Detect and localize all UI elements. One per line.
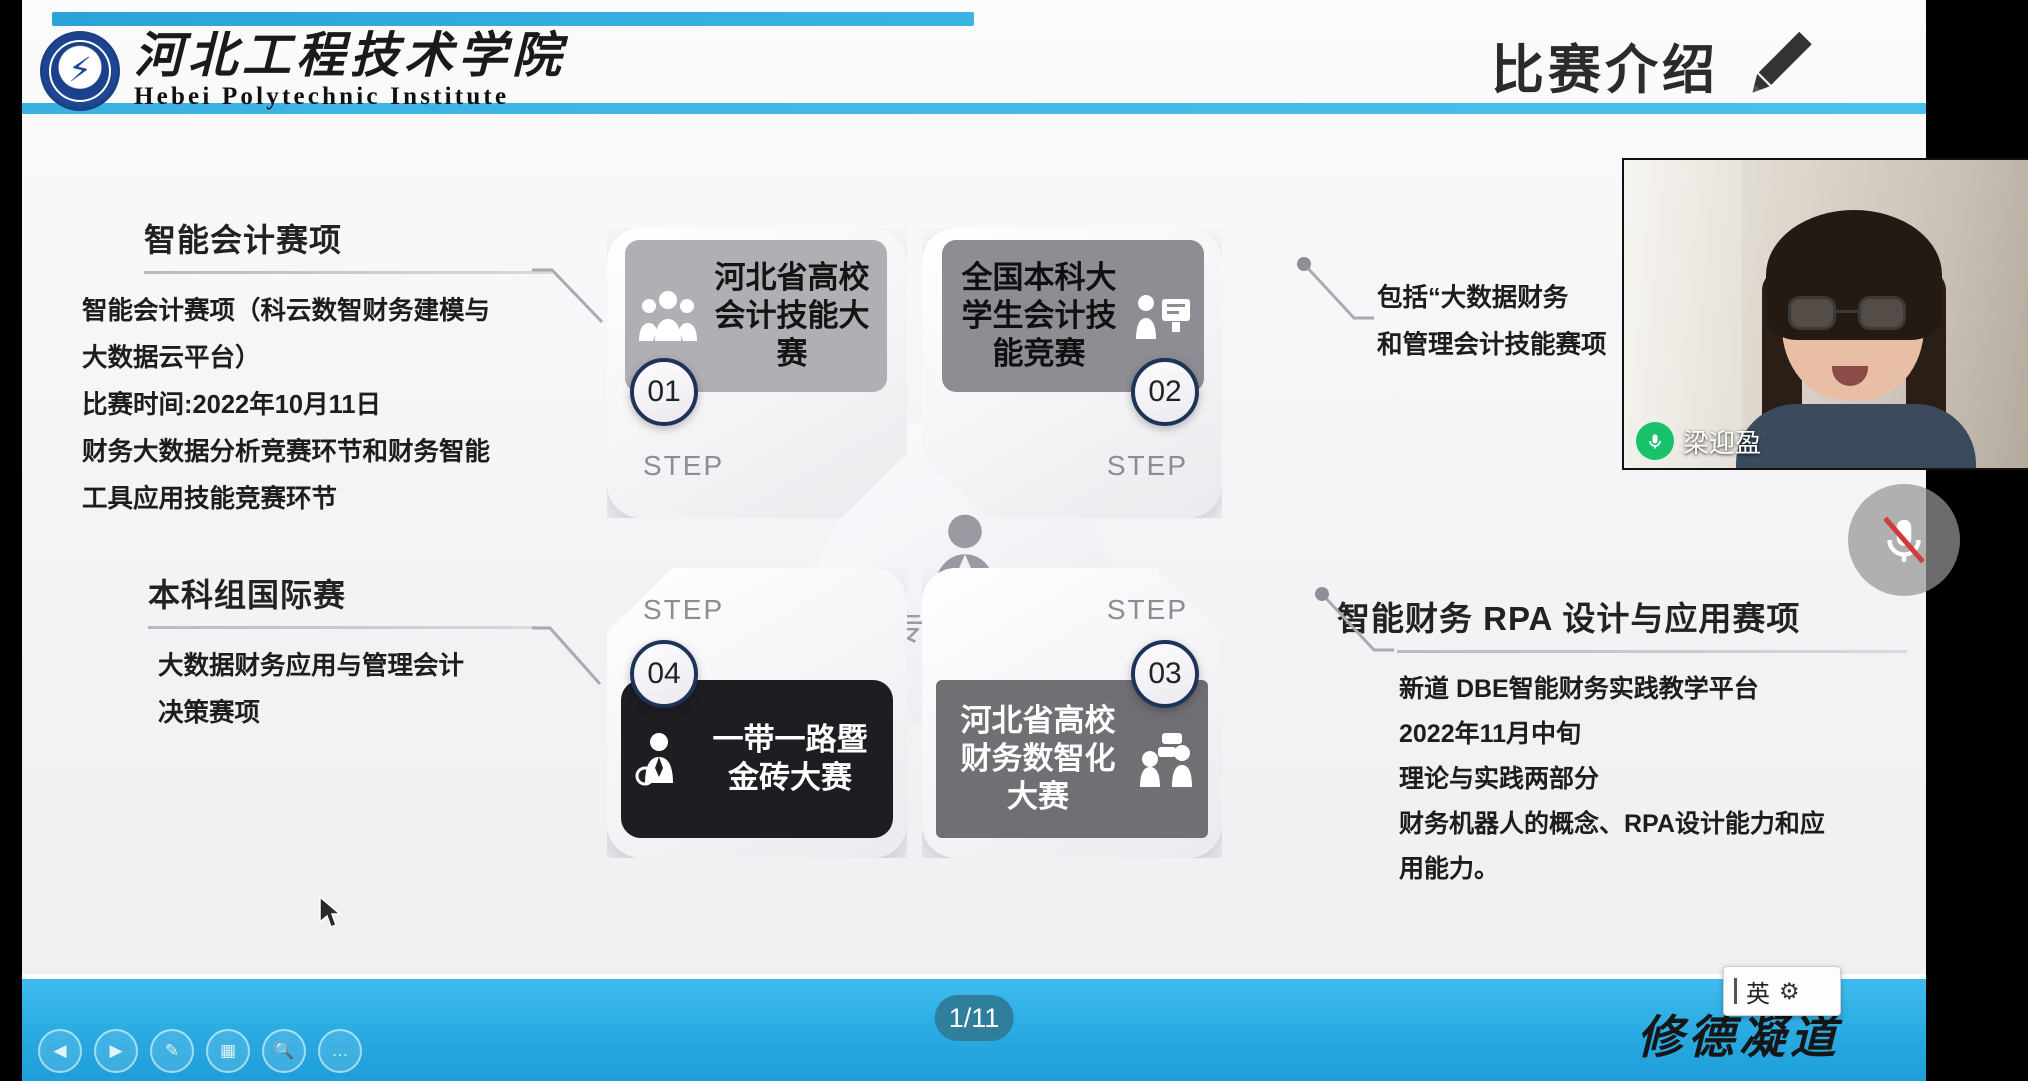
step-card-03-number: 03 [1131,640,1199,708]
step-card-02-text: 全国本科大学生会计技能竞赛 [954,259,1124,373]
microphone-icon [1636,422,1674,460]
ime-language-label[interactable]: 英 [1746,974,1770,1009]
block-line: 财务大数据分析竞赛环节和财务智能 [82,429,522,476]
block-line: 用能力。 [1399,847,1917,892]
microphone-muted-icon[interactable] [1848,484,1960,596]
block-line: 决策赛项 [158,690,560,737]
person-briefcase-icon [633,731,689,787]
presentation-toolbar: ◀ ▶ ✎ ▦ 🔍 … [22,1029,362,1073]
pencil-icon [1737,24,1821,102]
logo-chinese-name: 河北工程技术学院 [134,30,566,81]
gear-icon[interactable]: ⚙ [1779,978,1800,1005]
step-card-01-step-word: STEP [643,450,724,482]
logo-english-name: Hebei Polytechnic Institute [134,83,566,111]
divider [1397,650,1907,653]
block-line: 智能会计赛项（科云数智财务建模与 [82,288,522,335]
step-card-03-step-word: STEP [1107,594,1188,626]
person-screen-icon [1134,291,1192,341]
header-accent-bar [52,12,974,26]
participant-name-badge: 梁迎盈 [1636,422,1761,460]
step-card-01[interactable]: 河北省高校会计技能大赛 STEP 01 [607,228,907,518]
text-block-undergraduate-international: 本科组国际赛 大数据财务应用与管理会计 决策赛项 [140,570,560,737]
mouse-cursor [318,895,344,931]
step-card-04-text: 一带一路暨金砖大赛 [699,721,881,797]
block-line: 工具应用技能竞赛环节 [82,476,522,523]
step-card-04[interactable]: 一带一路暨金砖大赛 STEP 04 [607,568,907,858]
screen: ⚡ 河北工程技术学院 Hebei Polytechnic Institute 比… [0,0,2028,1081]
block-title: 本科组国际赛 [148,570,560,616]
block-line: 大数据财务应用与管理会计 [158,643,560,690]
group-people-icon [637,289,699,343]
block-title: 智能财务 RPA 设计与应用赛项 [1337,592,1917,640]
eyeglasses-icon [1788,296,1836,330]
next-slide-button[interactable]: ▶ [94,1029,138,1073]
ime-cursor-icon [1734,978,1737,1004]
step-card-02-number: 02 [1131,358,1199,426]
step-card-04-step-word: STEP [643,594,724,626]
text-block-intelligent-accounting: 智能会计赛项 智能会计赛项（科云数智财务建模与 大数据云平台） 比赛时间:202… [82,215,522,523]
step-card-03-text: 河北省高校财务数智化大赛 [948,702,1128,816]
more-options-button[interactable]: … [318,1029,362,1073]
step-card-04-number: 04 [630,640,698,708]
step-card-03[interactable]: 河北省高校财务数智化大赛 STEP 03 [922,568,1222,858]
prev-slide-button[interactable]: ◀ [38,1029,82,1073]
block-line: 比赛时间:2022年10月11日 [82,382,522,429]
zoom-button[interactable]: 🔍 [262,1029,306,1073]
block-line: 理论与实践两部分 [1399,757,1917,802]
block-line: 2022年11月中旬 [1399,712,1917,757]
page-indicator[interactable]: 1/11 [935,995,1014,1041]
step-card-02[interactable]: 全国本科大学生会计技能竞赛 STEP 02 [922,228,1222,518]
grid-view-button[interactable]: ▦ [206,1029,250,1073]
logo-seal-icon: ⚡ [40,31,120,111]
video-participant-tile[interactable]: 梁迎盈 [1622,158,2028,470]
block-line: 新道 DBE智能财务实践教学平台 [1399,667,1917,712]
pen-tool-button[interactable]: ✎ [150,1029,194,1073]
institution-logo: ⚡ 河北工程技术学院 Hebei Polytechnic Institute [40,30,566,111]
divider [144,271,552,274]
two-people-chat-icon [1138,731,1196,787]
block-line: 大数据云平台） [82,335,522,382]
text-block-rpa-design: 智能财务 RPA 设计与应用赛项 新道 DBE智能财务实践教学平台 2022年1… [1337,592,1917,892]
step-card-01-number: 01 [630,358,698,426]
hexagon-diagram: 专业技能 河北省高校会计技能大赛 STEP 01 全国本科大学生 [607,228,1327,918]
ime-indicator[interactable]: 英 ⚙ [1723,966,1841,1016]
block-title: 智能会计赛项 [144,215,522,261]
block-line: 财务机器人的概念、RPA设计能力和应 [1399,802,1917,847]
step-card-01-text: 河北省高校会计技能大赛 [709,259,875,373]
step-card-02-step-word: STEP [1107,450,1188,482]
page-title: 比赛介绍 [1491,28,1719,104]
participant-name: 梁迎盈 [1683,423,1761,460]
divider [148,626,540,629]
